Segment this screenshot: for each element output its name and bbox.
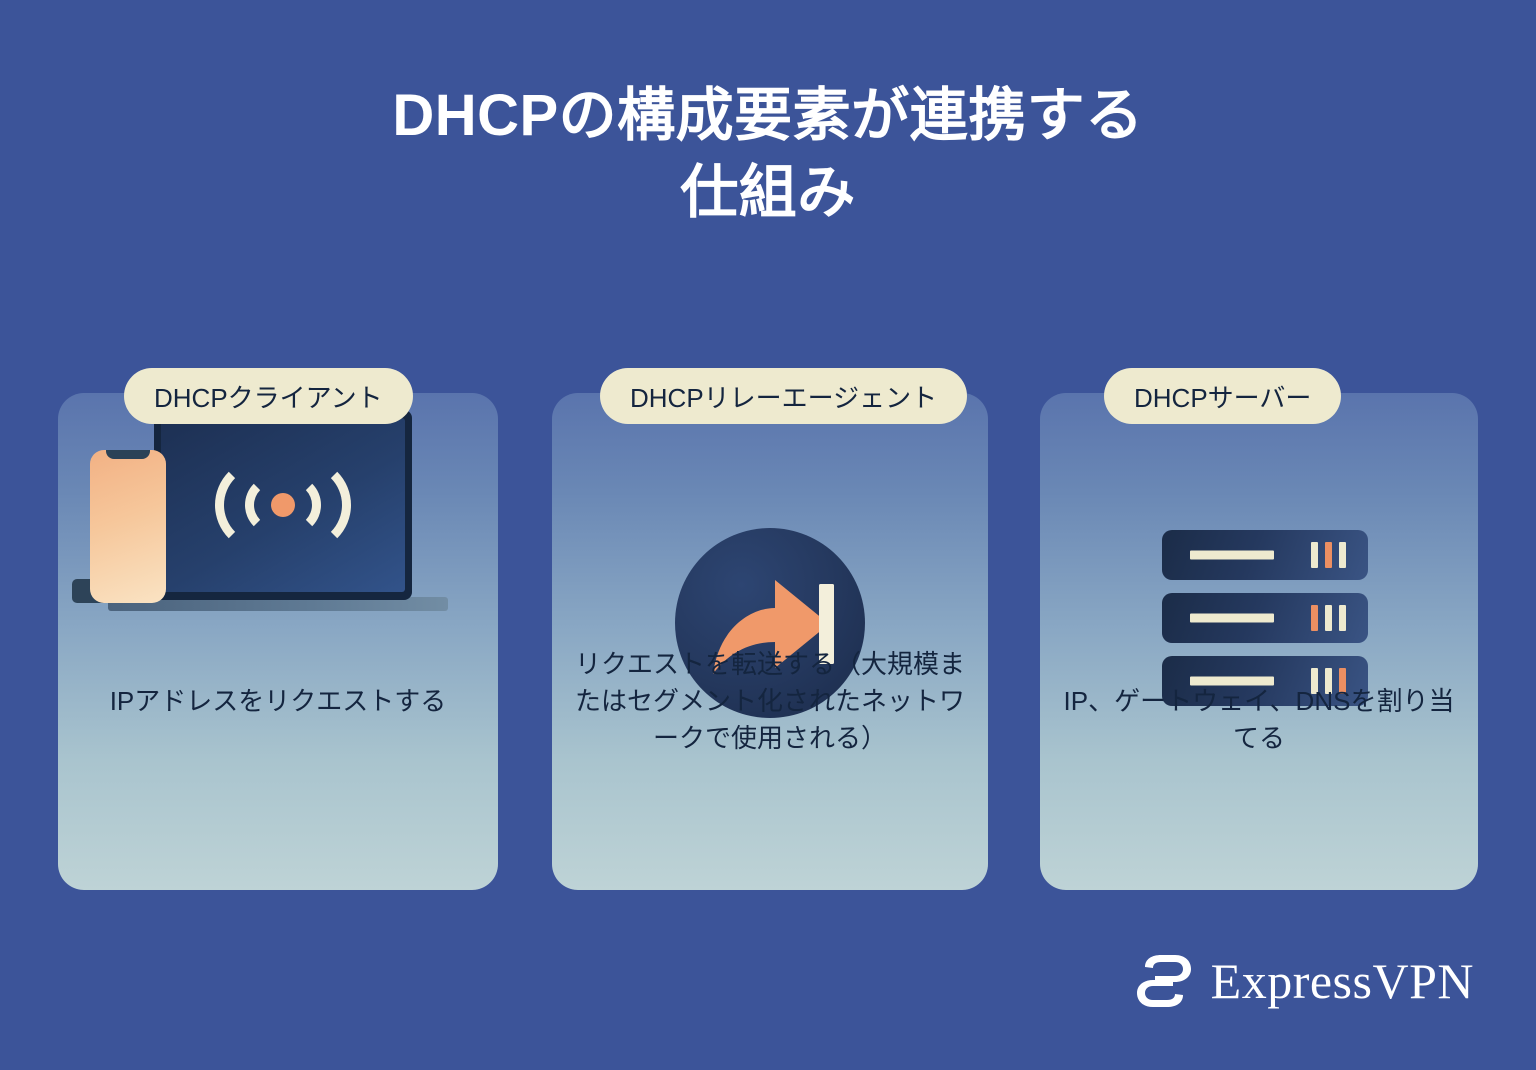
card-dhcp-server-pill: DHCPサーバー (1104, 368, 1341, 424)
server-led-group (1311, 605, 1346, 631)
wifi-signal-icon (208, 455, 358, 555)
page-title-line-1: DHCPの構成要素が連携する (0, 78, 1536, 155)
card-dhcp-relay-agent-pill: DHCPリレーエージェント (600, 368, 967, 424)
page-title-line-2: 仕組み (0, 155, 1536, 232)
phone-notch (106, 450, 150, 459)
cards-row: DHCPクライアント IPアドレスをリクエスト (0, 393, 1536, 893)
server-label-bar (1190, 551, 1274, 560)
phone-icon (90, 450, 166, 603)
card-dhcp-relay-agent-pill-label: DHCPリレーエージェント (630, 378, 937, 415)
server-label-bar (1190, 614, 1274, 623)
card-dhcp-server-caption: IP、ゲートウェイ、DNSを割り当てる (1040, 683, 1478, 757)
card-dhcp-client-pill-label: DHCPクライアント (154, 378, 383, 415)
card-dhcp-server: DHCPサーバー (1040, 393, 1478, 890)
server-led (1311, 542, 1318, 568)
server-unit (1162, 593, 1368, 643)
server-rack-icon (1040, 393, 1478, 683)
card-dhcp-client-caption: IPアドレスをリクエストする (58, 683, 498, 720)
server-led-group (1311, 542, 1346, 568)
card-dhcp-server-pill-label: DHCPサーバー (1134, 378, 1311, 415)
card-dhcp-client-pill: DHCPクライアント (124, 368, 413, 424)
server-led (1325, 605, 1332, 631)
expressvpn-wordmark: ExpressVPN (1211, 956, 1474, 1006)
expressvpn-e-mark-icon (1133, 950, 1195, 1012)
laptop-screen-inner (161, 418, 405, 592)
wifi-arc-right-outer (257, 458, 351, 552)
card-dhcp-relay-agent: DHCPリレーエージェント リクエストを転送する（大規模またはセグメント化された… (552, 393, 988, 890)
forward-arrow-circle-icon (552, 393, 988, 646)
laptop-phone-wifi-icon (58, 393, 498, 683)
server-led-active (1325, 542, 1332, 568)
server-unit (1162, 530, 1368, 580)
server-led-active (1311, 605, 1318, 631)
server-led (1339, 605, 1346, 631)
card-dhcp-client: DHCPクライアント IPアドレスをリクエスト (58, 393, 498, 890)
page-title: DHCPの構成要素が連携する 仕組み (0, 78, 1536, 231)
card-dhcp-relay-agent-caption: リクエストを転送する（大規模またはセグメント化されたネットワークで使用される） (552, 646, 988, 757)
server-led (1339, 542, 1346, 568)
expressvpn-logo: ExpressVPN (1133, 950, 1474, 1012)
laptop-screen-icon (154, 410, 412, 600)
